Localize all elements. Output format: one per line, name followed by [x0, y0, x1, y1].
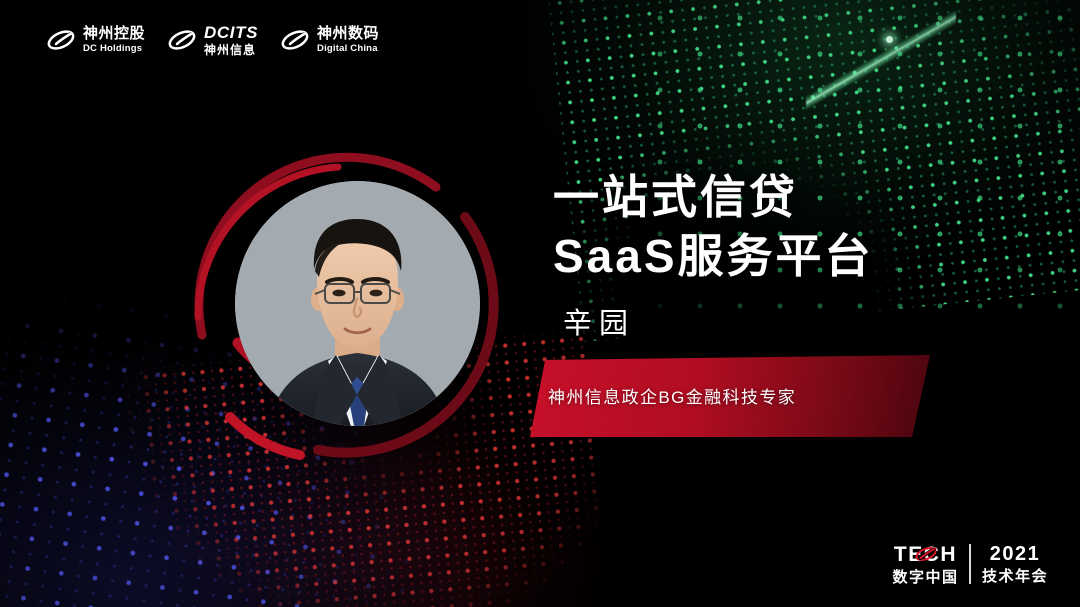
event-logo: TECH 数字中国 2021 技术年会	[892, 543, 1048, 585]
dc-swoosh-icon	[280, 26, 310, 54]
dc-swoosh-icon	[167, 26, 197, 54]
logo-digital-china: 神州数码 Digital China	[280, 26, 379, 54]
event-logo-year: 2021 技术年会	[982, 544, 1048, 584]
logo-dcits: DCITS 神州信息	[167, 24, 258, 56]
logo-dc-holdings-text: 神州控股 DC Holdings	[83, 26, 145, 54]
event-logo-tech-cn: 数字中国	[892, 570, 958, 585]
logo-digital-china-text: 神州数码 Digital China	[317, 26, 379, 54]
presentation-slide: 神州控股 DC Holdings DCITS 神州信息 神州数码	[0, 0, 1080, 607]
green-glow-dot	[886, 36, 893, 43]
tech-red-swoosh-icon	[914, 545, 938, 563]
logo-digital-china-cn: 神州数码	[317, 26, 379, 41]
event-year-cn: 技术年会	[982, 569, 1048, 584]
title-line-1: 一站式信贷	[553, 168, 874, 227]
ring-arc-lower-left	[230, 417, 300, 455]
event-year: 2021	[990, 544, 1041, 564]
slide-title: 一站式信贷 SaaS服务平台	[553, 168, 874, 286]
logo-dc-holdings-en: DC Holdings	[83, 44, 145, 54]
logo-dc-holdings: 神州控股 DC Holdings	[46, 26, 145, 54]
speaker-name: 辛园	[563, 300, 635, 342]
logo-digital-china-en: Digital China	[317, 44, 379, 54]
logo-dc-holdings-cn: 神州控股	[83, 26, 145, 41]
title-line-2: SaaS服务平台	[553, 227, 874, 286]
speaker-avatar	[235, 181, 480, 426]
dc-swoosh-icon	[46, 26, 76, 54]
speaker-affiliation: 神州信息政企BG金融科技专家	[548, 383, 796, 408]
speaker-portrait-group	[180, 133, 520, 473]
event-logo-tech: TECH 数字中国	[892, 543, 958, 585]
green-light-streak	[806, 0, 956, 140]
logo-dcits-cn: DCITS	[204, 24, 258, 41]
logo-dcits-text: DCITS 神州信息	[204, 24, 258, 56]
event-logo-divider	[969, 544, 971, 584]
logo-dcits-en: 神州信息	[204, 44, 258, 56]
brand-logo-bar: 神州控股 DC Holdings DCITS 神州信息 神州数码	[46, 24, 379, 56]
tech-wordmark: TECH	[894, 543, 957, 565]
speaker-headshot-illustration	[235, 181, 480, 426]
